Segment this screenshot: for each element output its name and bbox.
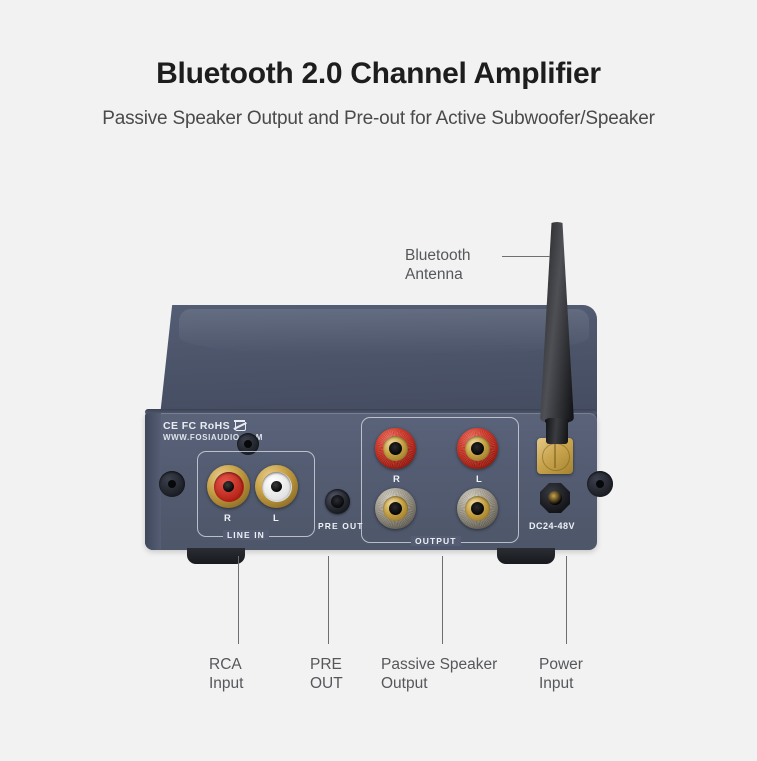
- chassis-screw-right: [587, 471, 613, 497]
- leader-power: [566, 556, 567, 644]
- callout-passive-speaker-output: Passive Speaker Output: [381, 655, 497, 694]
- leader-rca: [238, 556, 239, 644]
- pre-out-jack[interactable]: [325, 489, 350, 514]
- speaker-post-right-negative[interactable]: [375, 488, 416, 529]
- rca-label-left: L: [273, 513, 279, 524]
- callout-bluetooth-antenna: Bluetooth Antenna: [405, 246, 471, 285]
- certification-marks: CE FC RoHS: [163, 419, 245, 432]
- chassis-top-lid: [159, 305, 597, 425]
- rubber-foot-right: [497, 548, 555, 564]
- speaker-post-right-positive[interactable]: [375, 428, 416, 469]
- dc-voltage-label: DC24-48V: [529, 521, 575, 531]
- certification-text: CE FC RoHS: [163, 420, 230, 432]
- rca-jack-right[interactable]: [207, 465, 250, 508]
- speaker-post-left-negative[interactable]: [457, 488, 498, 529]
- line-in-label: LINE IN: [223, 530, 269, 540]
- speaker-label-left: L: [476, 474, 482, 485]
- page-subtitle: Passive Speaker Output and Pre-out for A…: [0, 108, 757, 130]
- bluetooth-antenna[interactable]: [534, 222, 580, 472]
- dc-power-jack[interactable]: [540, 483, 570, 513]
- antenna-neck: [546, 418, 568, 444]
- leader-antenna: [502, 256, 550, 257]
- callout-pre-out: PRE OUT: [310, 655, 343, 694]
- amplifier-chassis: CE FC RoHS WWW.FOSIAUDIO.COM LINE IN R L…: [145, 305, 597, 555]
- infographic-canvas: Bluetooth 2.0 Channel Amplifier Passive …: [0, 0, 757, 761]
- rca-jack-left[interactable]: [255, 465, 298, 508]
- rubber-foot-left: [187, 548, 245, 564]
- speaker-label-right: R: [393, 474, 400, 485]
- callout-rca-input: RCA Input: [209, 655, 243, 694]
- rca-label-right: R: [224, 513, 231, 524]
- chassis-screw-left: [159, 471, 185, 497]
- antenna-rod: [540, 222, 574, 422]
- leader-speaker: [442, 556, 443, 644]
- lid-highlight: [179, 309, 589, 355]
- speaker-post-left-positive[interactable]: [457, 428, 498, 469]
- callout-power-input: Power Input: [539, 655, 583, 694]
- page-title: Bluetooth 2.0 Channel Amplifier: [0, 57, 757, 91]
- leader-pre-out: [328, 556, 329, 644]
- output-label: OUTPUT: [411, 536, 461, 546]
- pre-out-label: PRE OUT: [314, 521, 367, 531]
- weee-bin-icon: [234, 419, 245, 432]
